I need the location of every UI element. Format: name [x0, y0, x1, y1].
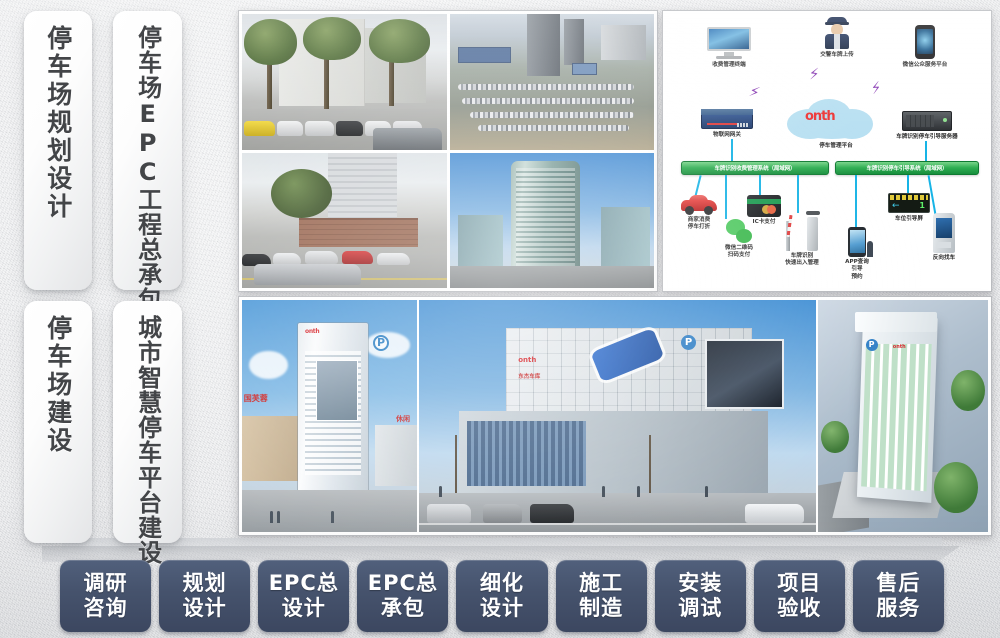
process-step-bar: 调研 咨询 规划 设计 EPC总 设计 EPC总 承包 细化 设计 施工 制造 …: [60, 560, 944, 632]
process-step-detailed-design[interactable]: 细化 设计: [456, 560, 547, 632]
leaf-reverse-car-find: 反向找车: [919, 213, 969, 262]
street-surface: [242, 490, 417, 532]
pedestrian: [602, 486, 605, 497]
parked-car: [377, 253, 410, 265]
brand-logo-subtitle: 东杰车库: [518, 372, 540, 380]
street-tree: [455, 435, 457, 495]
connector-line: [797, 175, 799, 213]
project-render-gallery: onth P 国芙蓉 休闲 P onth 东杰车库: [238, 296, 992, 536]
router-icon: [701, 109, 753, 129]
monitor-icon: [707, 27, 751, 59]
street-car: [530, 504, 574, 523]
landscape-tree: [934, 462, 978, 513]
process-step-after-sales-service[interactable]: 售后 服务: [853, 560, 944, 632]
render-parking-tower-streetview: onth P 国芙蓉 休闲: [242, 300, 417, 532]
process-step-survey-consulting[interactable]: 调研 咨询: [60, 560, 151, 632]
tree-canopy: [303, 17, 360, 60]
car-row: [470, 112, 634, 118]
parking-p-mark: P: [866, 339, 878, 351]
leaf-plate-recognition-gate: 车牌识别 快速出入管理: [773, 211, 831, 268]
pedestrian: [331, 511, 334, 523]
photo-parking-lot-with-brick-building: [242, 153, 447, 289]
app-phone-icon: [848, 227, 866, 257]
building-shape: [458, 215, 503, 266]
parked-car: [244, 121, 275, 136]
street-tree: [649, 435, 651, 495]
process-step-construction-manufacturing[interactable]: 施工 制造: [556, 560, 647, 632]
shop-sign-left: 国芙蓉: [244, 393, 268, 404]
landscape-tree: [821, 421, 848, 453]
street-surface: [450, 266, 655, 288]
adjacent-building-left: [242, 416, 302, 481]
smartphone-icon: [915, 25, 935, 59]
cloud-shape: [249, 351, 288, 379]
photo-surface-parking-lot-with-trees: [242, 14, 447, 150]
pedestrian: [277, 511, 280, 523]
barrier-gate-icon: [780, 211, 824, 251]
service-card-parking-planning-design[interactable]: 停车场规划设计: [24, 11, 92, 290]
led-billboard: [705, 339, 784, 409]
slide-canvas: 停车场规划设计 停车场EPC工程总承包 停车场建设 城市智慧停车平台建设: [0, 0, 1000, 638]
server-icon: [902, 111, 952, 131]
connector-line: [731, 139, 733, 163]
system-bar-toll-management: 车牌识别收费管理系统（局域网）: [681, 161, 829, 175]
street-car: [483, 504, 523, 523]
node-police-upload: 交警车牌上传: [791, 17, 883, 59]
photo-aerial-view-parking-field: [450, 14, 655, 150]
building-shape: [601, 207, 650, 267]
process-step-epc-design[interactable]: EPC总 设计: [258, 560, 349, 632]
led-screen-icon: ←1: [888, 193, 930, 213]
leaf-app-query-guide: APP查询 引导 预约: [833, 227, 881, 281]
render-parking-tower-aerial: P onth: [818, 300, 988, 532]
service-card-label: 停车场EPC工程总承包: [133, 25, 161, 312]
street-car: [745, 504, 805, 523]
highrise-shape: [564, 19, 584, 65]
service-card-smart-parking-platform[interactable]: 城市智慧停车平台建设: [113, 301, 182, 543]
parking-p-mark: P: [681, 335, 696, 350]
tree-canopy: [271, 169, 332, 218]
warehouse-roof: [572, 63, 597, 75]
pedestrian: [439, 486, 442, 497]
lane-marking: [419, 523, 816, 525]
parked-car: [305, 251, 338, 263]
lightning-link-icon: ⚡: [869, 80, 883, 97]
process-step-epc-contracting[interactable]: EPC总 承包: [357, 560, 448, 632]
service-card-label: 停车场建设: [43, 315, 73, 455]
service-card-parking-construction[interactable]: 停车场建设: [24, 301, 92, 543]
building-shape: [601, 25, 646, 60]
adjacent-building-right: [375, 425, 417, 485]
landscape-tree: [951, 370, 985, 412]
brick-building: [299, 218, 418, 248]
billboard: [316, 360, 358, 420]
tower-roof: [855, 312, 937, 333]
parked-car: [305, 121, 334, 136]
lightning-link-icon: ⚡: [808, 67, 820, 83]
tree-canopy: [244, 19, 297, 65]
highrise-shape: [527, 14, 560, 76]
cloud-platform-icon: onth: [783, 97, 887, 143]
process-step-installation-commissioning[interactable]: 安装 调试: [655, 560, 746, 632]
glass-curtain-wall: [467, 421, 586, 486]
brand-logo: onth: [518, 356, 536, 364]
parked-car: [277, 121, 304, 136]
lightning-link-icon: ⚡: [747, 84, 761, 101]
foreground-car: [373, 128, 443, 150]
parked-car: [336, 121, 363, 136]
photo-glass-office-tower: [450, 153, 655, 289]
brand-logo: onth: [805, 109, 835, 124]
cloud-platform-label: 停车管理平台: [791, 143, 881, 150]
service-card-label: 停车场规划设计: [43, 25, 73, 221]
warehouse-roof: [458, 47, 511, 63]
node-iot-gateway: 物联网网关: [677, 109, 777, 139]
red-car-icon: [681, 193, 717, 215]
parked-car: [342, 251, 373, 263]
system-architecture-diagram: onth 停车管理平台 ⚡ ⚡ ⚡ 收费管理终端 交警车牌上传: [662, 10, 992, 292]
shop-sign-right: 休闲: [396, 414, 410, 424]
service-card-parking-epc-contracting[interactable]: 停车场EPC工程总承包: [113, 11, 182, 290]
connector-line: [759, 175, 761, 197]
pedestrian: [705, 486, 708, 497]
service-card-label: 城市智慧停车平台建设: [133, 315, 161, 565]
brand-logo: onth: [305, 328, 319, 335]
pedestrian: [270, 511, 273, 523]
tree-canopy: [369, 19, 430, 62]
brand-logo: onth: [893, 344, 906, 350]
connector-line: [855, 175, 857, 229]
node-toll-terminal: 收费管理终端: [681, 27, 777, 69]
parking-p-mark: P: [373, 335, 389, 351]
process-step-planning-design[interactable]: 规划 设计: [159, 560, 250, 632]
car-row: [478, 125, 629, 131]
photo-collage: [238, 10, 658, 292]
police-officer-icon: [824, 17, 850, 49]
highrise-shape: [328, 153, 398, 223]
kiosk-icon: [933, 213, 955, 253]
system-bar-parking-guidance: 车牌识别停车引导系统（局域网）: [835, 161, 979, 175]
render-parking-garage-wide: P onth 东杰车库: [419, 300, 816, 532]
car-row: [458, 84, 634, 90]
glass-tower: [511, 161, 581, 267]
process-step-project-acceptance[interactable]: 项目 验收: [754, 560, 845, 632]
node-guide-server: 车牌识别停车引导服务器: [873, 111, 981, 141]
street-car: [427, 504, 471, 523]
node-wechat-platform: 微信公众服务平台: [875, 25, 975, 69]
connector-line: [925, 141, 927, 163]
pedestrian: [637, 486, 640, 497]
foreground-car: [254, 264, 360, 286]
car-row: [462, 98, 634, 104]
